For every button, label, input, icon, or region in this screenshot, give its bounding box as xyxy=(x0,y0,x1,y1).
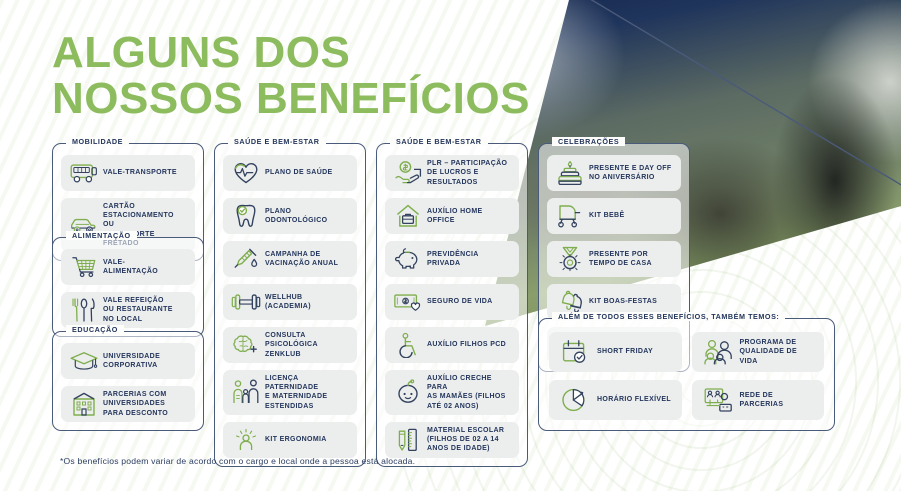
bus-icon xyxy=(67,159,101,187)
benefit-rede-de-parcerias[interactable]: REDE DE PARCERIAS xyxy=(692,380,825,420)
benefit-label: KIT BOAS-FESTAS xyxy=(587,297,657,306)
clock-pie-icon xyxy=(555,384,595,416)
benefit-label: AUXÍLIO HOME OFFICE xyxy=(425,207,511,225)
graduation-cap-icon xyxy=(67,347,101,375)
ergonomics-icon xyxy=(229,426,263,454)
group-legend-celebracoes: CELEBRAÇÕES xyxy=(552,137,625,146)
people-group-icon xyxy=(698,336,738,368)
benefit-licenca-paternidade-maternidade[interactable]: LICENÇA PATERNIDADE E MATERNIDADE ESTEND… xyxy=(223,370,357,415)
benefit-label: CAMPANHA DE VACINAÇÃO ANUAL xyxy=(263,250,338,268)
group-saude-bem-estar-2: SAÚDE E BEM-ESTAR PLR – PARTICIPAÇÃO DE … xyxy=(376,143,528,467)
benefit-vale-transporte[interactable]: VALE-TRANSPORTE xyxy=(61,155,195,191)
benefit-presente-day-off-aniversario[interactable]: PRESENTE E DAY OFF NO ANIVERSÁRIO xyxy=(547,155,681,191)
benefit-plano-de-saude[interactable]: PLANO DE SAÚDE xyxy=(223,155,357,191)
dumbbell-icon xyxy=(229,288,263,316)
benefit-label: PREVIDÊNCIA PRIVADA xyxy=(425,250,511,268)
benefit-vale-refeicao[interactable]: VALE REFEIÇÃO OU RESTAURANTE NO LOCAL xyxy=(61,292,195,328)
benefit-label: VALE-TRANSPORTE xyxy=(101,168,177,177)
benefit-auxilio-home-office[interactable]: AUXÍLIO HOME OFFICE xyxy=(385,198,519,234)
benefit-vale-alimentacao[interactable]: VALE- ALIMENTAÇÃO xyxy=(61,249,195,285)
benefit-label: VALE- ALIMENTAÇÃO xyxy=(101,258,158,276)
benefit-universidade-corporativa[interactable]: UNIVERSIDADE CORPORATIVA xyxy=(61,343,195,379)
banknote-heart-icon xyxy=(391,288,425,316)
piggy-bank-icon xyxy=(391,245,425,273)
benefit-label: HORÁRIO FLEXÍVEL xyxy=(595,395,671,404)
slide-canvas: ALGUNS DOS NOSSOS BENEFÍCIOS MOBILIDADE xyxy=(0,0,901,491)
benefit-short-friday[interactable]: SHORT FRIDAY xyxy=(549,332,682,372)
benefit-seguro-de-vida[interactable]: SEGURO DE VIDA xyxy=(385,284,519,320)
benefit-label: PARCERIAS COM UNIVERSIDADES PARA DESCONT… xyxy=(101,390,168,418)
footnote-text: *Os benefícios podem variar de acordo co… xyxy=(60,456,415,466)
university-building-icon xyxy=(67,390,101,418)
stroller-icon xyxy=(553,202,587,230)
brain-icon xyxy=(229,331,263,359)
shopping-cart-icon xyxy=(67,253,101,281)
page-title: ALGUNS DOS NOSSOS BENEFÍCIOS xyxy=(52,30,530,122)
group-alimentacao: ALIMENTAÇÃO VALE- ALIMENTAÇÃO xyxy=(52,237,204,337)
group-legend-alimentacao: ALIMENTAÇÃO xyxy=(66,231,137,240)
benefit-label: AUXÍLIO FILHOS PCD xyxy=(425,340,506,349)
benefit-label: REDE DE PARCERIAS xyxy=(738,391,817,409)
benefit-plr[interactable]: PLR – PARTICIPAÇÃO DE LUCROS E RESULTADO… xyxy=(385,155,519,191)
benefit-label: CONSULTA PSICOLÓGICA ZENKLUB xyxy=(263,331,349,359)
network-partners-icon xyxy=(698,384,738,416)
hand-coin-icon xyxy=(391,159,425,187)
group-alem-de-todos: ALÉM DE TODOS ESSES BENEFÍCIOS, TAMBÉM T… xyxy=(538,318,835,431)
group-legend-saude-2: SAÚDE E BEM-ESTAR xyxy=(390,137,488,146)
medal-icon xyxy=(553,245,587,273)
benefit-consulta-psicologica[interactable]: CONSULTA PSICOLÓGICA ZENKLUB xyxy=(223,327,357,363)
benefit-programa-qualidade-de-vida[interactable]: PROGRAMA DE QUALIDADE DE VIDA xyxy=(692,332,825,372)
benefit-label: PLANO DE SAÚDE xyxy=(263,168,333,177)
benefit-label: SHORT FRIDAY xyxy=(595,347,653,356)
benefit-label: PROGRAMA DE QUALIDADE DE VIDA xyxy=(738,338,817,366)
benefit-kit-ergonomia[interactable]: KIT ERGONOMIA xyxy=(223,422,357,458)
heart-pulse-icon xyxy=(229,159,263,187)
group-legend-alem-de-todos: ALÉM DE TODOS ESSES BENEFÍCIOS, TAMBÉM T… xyxy=(552,312,785,321)
benefit-label: AUXÍLIO CRECHE PARA AS MAMÃES (FILHOS AT… xyxy=(425,374,511,411)
benefit-auxilio-creche[interactable]: AUXÍLIO CRECHE PARA AS MAMÃES (FILHOS AT… xyxy=(385,370,519,415)
benefit-kit-bebe[interactable]: KIT BEBÊ xyxy=(547,198,681,234)
benefit-label: VALE REFEIÇÃO OU RESTAURANTE NO LOCAL xyxy=(101,296,173,324)
cutlery-icon xyxy=(67,296,101,324)
group-legend-saude-1: SAÚDE E BEM-ESTAR xyxy=(228,137,326,146)
benefit-label: PRESENTE E DAY OFF NO ANIVERSÁRIO xyxy=(587,164,672,182)
group-legend-educacao: EDUCAÇÃO xyxy=(66,325,124,334)
benefit-label: KIT BEBÊ xyxy=(587,211,624,220)
syringe-icon xyxy=(229,245,263,273)
benefit-auxilio-filhos-pcd[interactable]: AUXÍLIO FILHOS PCD xyxy=(385,327,519,363)
baby-icon xyxy=(391,378,425,406)
benefit-label: PLR – PARTICIPAÇÃO DE LUCROS E RESULTADO… xyxy=(425,159,507,187)
benefit-wellhub-academia[interactable]: WELLHUB (ACADEMIA) xyxy=(223,284,357,320)
benefit-label: LICENÇA PATERNIDADE E MATERNIDADE ESTEND… xyxy=(263,374,349,411)
benefit-horario-flexivel[interactable]: HORÁRIO FLEXÍVEL xyxy=(549,380,682,420)
family-icon xyxy=(229,378,263,406)
benefit-previdencia-privada[interactable]: PREVIDÊNCIA PRIVADA xyxy=(385,241,519,277)
benefit-label: SEGURO DE VIDA xyxy=(425,297,493,306)
benefit-presente-tempo-de-casa[interactable]: PRESENTE POR TEMPO DE CASA xyxy=(547,241,681,277)
tooth-icon xyxy=(229,202,263,230)
group-legend-mobilidade: MOBILIDADE xyxy=(66,137,129,146)
benefit-material-escolar[interactable]: MATERIAL ESCOLAR (FILHOS DE 02 A 14 ANOS… xyxy=(385,422,519,458)
benefit-parcerias-universidades[interactable]: PARCERIAS COM UNIVERSIDADES PARA DESCONT… xyxy=(61,386,195,422)
benefit-label: MATERIAL ESCOLAR (FILHOS DE 02 A 14 ANOS… xyxy=(425,426,504,454)
group-educacao: EDUCAÇÃO UNIVERSIDADE CORPORATIVA xyxy=(52,331,204,431)
calendar-check-icon xyxy=(555,336,595,368)
benefit-campanha-vacinacao[interactable]: CAMPANHA DE VACINAÇÃO ANUAL xyxy=(223,241,357,277)
benefit-label: PRESENTE POR TEMPO DE CASA xyxy=(587,250,652,268)
home-office-icon xyxy=(391,202,425,230)
benefit-label: PLANO ODONTOLÓGICO xyxy=(263,207,327,225)
benefit-plano-odontologico[interactable]: PLANO ODONTOLÓGICO xyxy=(223,198,357,234)
benefit-label: KIT ERGONOMIA xyxy=(263,435,327,444)
wheelchair-icon xyxy=(391,331,425,359)
benefit-label: WELLHUB (ACADEMIA) xyxy=(263,293,311,311)
pencil-ruler-icon xyxy=(391,426,425,454)
cake-icon xyxy=(553,159,587,187)
benefit-label: UNIVERSIDADE CORPORATIVA xyxy=(101,352,160,370)
group-saude-bem-estar-1: SAÚDE E BEM-ESTAR PLANO DE SAÚDE xyxy=(214,143,366,467)
